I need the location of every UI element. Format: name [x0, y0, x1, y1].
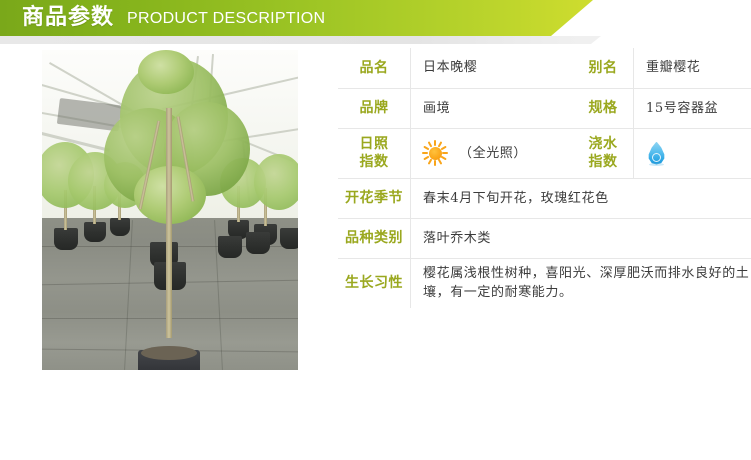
sun-ray [423, 146, 429, 150]
sun-ray [424, 156, 430, 160]
spec-label-guige: 规格 [573, 88, 634, 128]
pot-soil [141, 346, 197, 360]
table-row: 生长习性 樱花属浅根性树种，喜阳光、深厚肥沃而排水良好的土壤，有一定的耐寒能力。 [338, 258, 751, 308]
header-banner: 商品参数 PRODUCT DESCRIPTION [0, 0, 751, 36]
product-photo [42, 50, 298, 370]
nursery-pot [54, 228, 78, 250]
sun-ray [422, 152, 428, 154]
sun-ray [428, 141, 432, 147]
spec-value-pinming: 日本晚樱 [411, 48, 574, 88]
spec-label-pinzhongleibie: 品种类别 [338, 218, 411, 258]
spec-label-pinming: 品名 [338, 48, 411, 88]
table-row: 品牌 画境 规格 15号容器盆 [338, 88, 751, 128]
nursery-pot [280, 228, 298, 249]
page-title-cn: 商品参数 [22, 4, 114, 32]
sun-ray [434, 140, 436, 146]
table-row: 品名 日本晚樱 别名 重瓣樱花 [338, 48, 751, 88]
sun-ray [428, 159, 432, 165]
spec-label-rizhao-text: 日照指数 [356, 135, 392, 171]
main-tree-foliage [138, 50, 194, 94]
sun-note-text: （全光照） [459, 144, 527, 163]
header-underline-cut [591, 36, 751, 44]
sun-ray [441, 146, 447, 150]
spec-label-pinpai: 品牌 [338, 88, 411, 128]
spec-value-pinzhongleibie: 落叶乔木类 [411, 218, 751, 258]
nursery-pot [84, 222, 106, 242]
bottom-banner: 实物拍摄 \ Physical shooting 2. Physical sho… [0, 380, 751, 460]
spec-label-bieming: 别名 [573, 48, 634, 88]
spec-label-jiaoshui-text: 浇水指数 [585, 135, 621, 171]
table-row: 日照指数 [338, 128, 751, 178]
table-row: 品种类别 落叶乔木类 [338, 218, 751, 258]
spec-label-rizhao: 日照指数 [338, 128, 411, 178]
spec-value-jiaoshui [634, 128, 751, 178]
spec-value-guige: 15号容器盆 [634, 88, 751, 128]
spec-table: 品名 日本晚樱 别名 重瓣樱花 品牌 画境 规格 15号容器盆 日照指数 [338, 48, 751, 308]
spec-value-bieming: 重瓣樱花 [634, 48, 751, 88]
sun-ray [438, 141, 442, 147]
spec-value-rizhao: （全光照） [411, 128, 574, 178]
header-underline [0, 36, 751, 44]
product-description-page: 商品参数 PRODUCT DESCRIPTION [0, 0, 751, 460]
main-tree-trunk [166, 108, 172, 338]
sun-ray [441, 156, 447, 160]
nursery-pot [110, 218, 130, 236]
spec-value-pinpai: 画境 [411, 88, 574, 128]
sun-indicator: （全光照） [411, 139, 573, 167]
sun-ray [438, 159, 442, 165]
spec-label-shengzhangxixing: 生长习性 [338, 258, 411, 308]
spec-value-kaihuajijie: 春末4月下旬开花，玫瑰红花色 [411, 178, 751, 218]
spec-table-body: 品名 日本晚樱 别名 重瓣樱花 品牌 画境 规格 15号容器盆 日照指数 [338, 48, 751, 308]
table-row: 开花季节 春末4月下旬开花，玫瑰红花色 [338, 178, 751, 218]
spec-value-shengzhangxixing: 樱花属浅根性树种，喜阳光、深厚肥沃而排水良好的土壤，有一定的耐寒能力。 [411, 258, 751, 308]
sun-ray [442, 152, 448, 154]
tree-foliage [254, 154, 298, 210]
water-drop-shadow [649, 163, 664, 166]
spec-label-jiaoshui: 浇水指数 [573, 128, 634, 178]
water-drop-highlight [652, 153, 661, 162]
nursery-pot [218, 236, 242, 258]
sun-ray [435, 160, 437, 166]
nursery-pot [246, 232, 270, 254]
water-indicator [634, 142, 751, 165]
spec-label-kaihuajijie: 开花季节 [338, 178, 411, 218]
product-photo-image [42, 50, 298, 370]
page-title-en: PRODUCT DESCRIPTION [127, 9, 325, 29]
water-drop-icon [648, 142, 665, 165]
sun-icon [421, 139, 449, 167]
